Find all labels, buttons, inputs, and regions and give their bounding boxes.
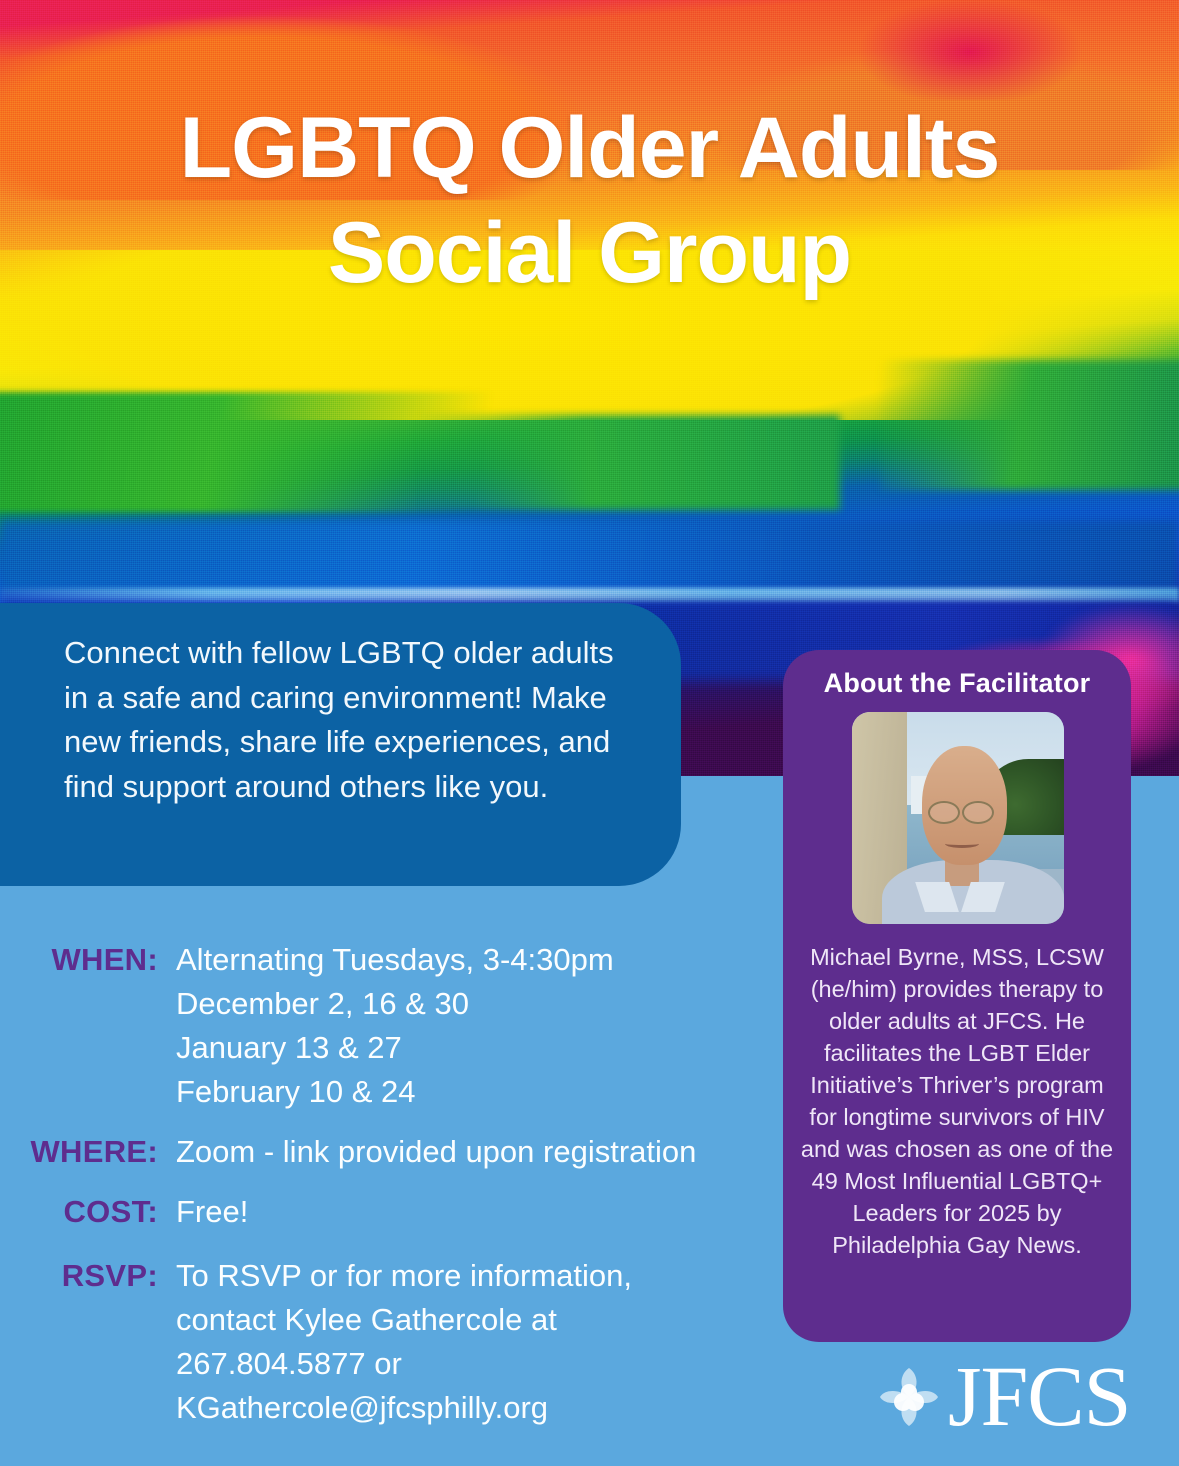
page-title: LGBTQ Older Adults Social Group xyxy=(0,96,1179,306)
title-line-2: Social Group xyxy=(0,201,1179,306)
rsvp-email[interactable]: KGathercole@jfcsphilly.org xyxy=(176,1386,632,1430)
rsvp-phone[interactable]: 267.804.5877 or xyxy=(176,1342,632,1386)
jfcs-logo: JFCS xyxy=(876,1350,1126,1442)
detail-value-rsvp: To RSVP or for more information, contact… xyxy=(176,1254,632,1430)
where-line-1: Zoom - link provided upon registration xyxy=(176,1130,696,1174)
facilitator-photo xyxy=(852,712,1064,924)
detail-label-where: WHERE: xyxy=(0,1130,176,1174)
detail-value-when: Alternating Tuesdays, 3-4:30pm December … xyxy=(176,938,614,1114)
when-line-2: December 2, 16 & 30 xyxy=(176,982,614,1026)
when-line-4: February 10 & 24 xyxy=(176,1070,614,1114)
headshot-illustration xyxy=(852,712,1064,924)
facilitator-card: About the Facilitator Michael Byrne, MSS… xyxy=(783,650,1131,1342)
detail-row-rsvp: RSVP: To RSVP or for more information, c… xyxy=(0,1254,770,1430)
intro-text: Connect with fellow LGBTQ older adults i… xyxy=(64,631,630,810)
jfcs-floral-mark-icon xyxy=(876,1364,942,1430)
detail-row-when: WHEN: Alternating Tuesdays, 3-4:30pm Dec… xyxy=(0,938,770,1114)
jfcs-wordmark: JFCS xyxy=(948,1346,1131,1446)
when-line-1: Alternating Tuesdays, 3-4:30pm xyxy=(176,938,614,982)
cost-line-1: Free! xyxy=(176,1190,248,1234)
rsvp-line-1: To RSVP or for more information, xyxy=(176,1254,632,1298)
detail-label-when: WHEN: xyxy=(0,938,176,1114)
facilitator-heading: About the Facilitator xyxy=(783,668,1131,699)
intro-bubble: Connect with fellow LGBTQ older adults i… xyxy=(0,603,681,886)
detail-value-where: Zoom - link provided upon registration xyxy=(176,1130,696,1174)
photo-smile xyxy=(945,839,979,847)
when-line-3: January 13 & 27 xyxy=(176,1026,614,1070)
detail-label-rsvp: RSVP: xyxy=(0,1254,176,1430)
facilitator-bio: Michael Byrne, MSS, LCSW (he/him) provid… xyxy=(797,942,1117,1262)
detail-value-cost: Free! xyxy=(176,1190,248,1234)
title-line-1: LGBTQ Older Adults xyxy=(0,96,1179,201)
event-details-list: WHEN: Alternating Tuesdays, 3-4:30pm Dec… xyxy=(0,938,770,1436)
detail-row-where: WHERE: Zoom - link provided upon registr… xyxy=(0,1130,770,1174)
detail-row-cost: COST: Free! xyxy=(0,1190,770,1234)
detail-label-cost: COST: xyxy=(0,1190,176,1234)
rsvp-line-2: contact Kylee Gathercole at xyxy=(176,1298,632,1342)
